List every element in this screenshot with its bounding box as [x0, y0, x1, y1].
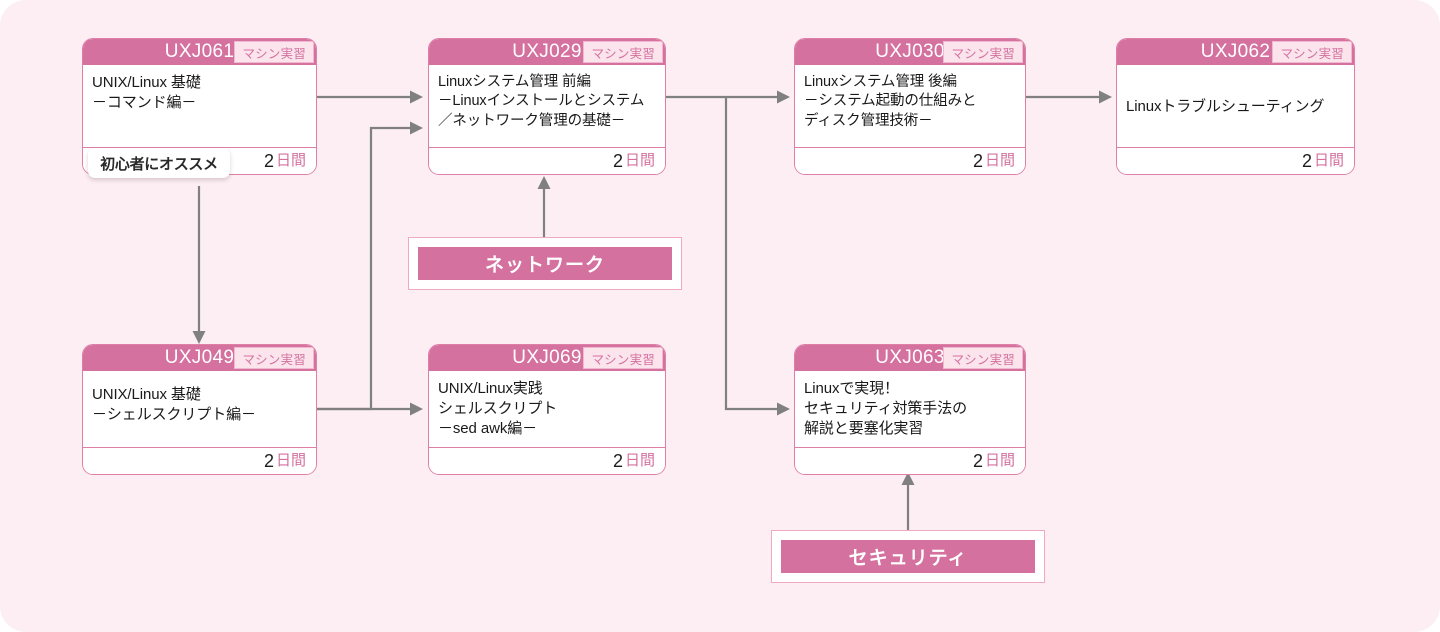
title-line: ディスク管理技術－	[804, 112, 1016, 131]
course-format-tag: マシン実習	[943, 347, 1023, 369]
duration-number: 2	[264, 452, 274, 470]
course-flow-diagram: UXJ061 マシン実習 UNIX/Linux 基礎 －コマンド編－ 2 日間 …	[0, 0, 1440, 632]
course-title: UNIX/Linux 基礎 －シェルスクリプト編－	[83, 371, 316, 431]
title-line: UNIX/Linux実践	[438, 379, 656, 399]
card-footer: 2 日間	[795, 447, 1025, 474]
duration-unit: 日間	[625, 153, 655, 169]
card-footer: 2 日間	[429, 447, 665, 474]
card-header: UXJ062 マシン実習	[1117, 39, 1354, 65]
course-card-uxj062[interactable]: UXJ062 マシン実習 Linuxトラブルシューティング 2 日間	[1116, 38, 1355, 175]
category-fill: セキュリティ	[781, 540, 1035, 573]
course-code: UXJ030	[875, 42, 944, 62]
course-card-uxj049[interactable]: UXJ049 マシン実習 UNIX/Linux 基礎 －シェルスクリプト編－ 2…	[82, 344, 317, 475]
duration-number: 2	[973, 152, 983, 170]
category-fill: ネットワーク	[418, 247, 672, 280]
title-line: Linuxトラブルシューティング	[1126, 97, 1324, 117]
course-code: UXJ061	[165, 42, 234, 62]
title-line: セキュリティ対策手法の	[804, 399, 1016, 419]
course-code: UXJ049	[165, 348, 234, 368]
card-header: UXJ061 マシン実習	[83, 39, 316, 65]
title-line: －コマンド編－	[92, 93, 307, 113]
title-line: ／ネットワーク管理の基礎－	[438, 112, 656, 131]
title-line: Linuxシステム管理 前編	[438, 73, 656, 92]
course-title: Linuxシステム管理 後編 －システム起動の仕組みと ディスク管理技術－	[795, 65, 1025, 137]
title-line: －システム起動の仕組みと	[804, 92, 1016, 111]
duration-number: 2	[613, 452, 623, 470]
title-line: 解説と要塞化実習	[804, 419, 1016, 439]
card-header: UXJ069 マシン実習	[429, 345, 665, 371]
course-format-tag: マシン実習	[234, 41, 314, 63]
course-card-uxj063[interactable]: UXJ063 マシン実習 Linuxで実現！ セキュリティ対策手法の 解説と要塞…	[794, 344, 1026, 475]
duration-number: 2	[973, 452, 983, 470]
title-line: Linuxシステム管理 後編	[804, 73, 1016, 92]
card-footer: 2 日間	[795, 147, 1025, 174]
card-header: UXJ049 マシン実習	[83, 345, 316, 371]
duration-number: 2	[613, 152, 623, 170]
title-line: シェルスクリプト	[438, 399, 656, 419]
category-box-network[interactable]: ネットワーク	[408, 237, 682, 290]
category-box-security[interactable]: セキュリティ	[771, 530, 1045, 583]
course-card-uxj030[interactable]: UXJ030 マシン実習 Linuxシステム管理 後編 －システム起動の仕組みと…	[794, 38, 1026, 175]
course-code: UXJ029	[512, 42, 581, 62]
card-footer: 2 日間	[83, 447, 316, 474]
title-line: UNIX/Linux 基礎	[92, 73, 307, 93]
duration-number: 2	[1302, 152, 1312, 170]
card-footer: 2 日間	[429, 147, 665, 174]
course-title: Linuxシステム管理 前編 －Linuxインストールとシステム ／ネットワーク…	[429, 65, 665, 137]
course-code: UXJ062	[1201, 42, 1270, 62]
card-header: UXJ029 マシン実習	[429, 39, 665, 65]
course-code: UXJ069	[512, 348, 581, 368]
title-line: －sed awk編－	[438, 419, 656, 439]
duration-unit: 日間	[276, 453, 306, 469]
title-line: Linuxで実現！	[804, 379, 1016, 399]
beginner-recommend-badge: 初心者にオススメ	[88, 148, 230, 178]
card-footer: 2 日間	[1117, 147, 1354, 174]
course-card-uxj069[interactable]: UXJ069 マシン実習 UNIX/Linux実践 シェルスクリプト －sed …	[428, 344, 666, 475]
course-title: Linuxで実現！ セキュリティ対策手法の 解説と要塞化実習	[795, 371, 1025, 445]
card-header: UXJ063 マシン実習	[795, 345, 1025, 371]
category-label: セキュリティ	[849, 543, 968, 570]
title-line: UNIX/Linux 基礎	[92, 385, 307, 405]
duration-unit: 日間	[1314, 153, 1344, 169]
course-format-tag: マシン実習	[1272, 41, 1352, 63]
card-header: UXJ030 マシン実習	[795, 39, 1025, 65]
course-format-tag: マシン実習	[583, 41, 663, 63]
duration-number: 2	[264, 152, 274, 170]
course-code: UXJ063	[875, 348, 944, 368]
course-title: Linuxトラブルシューティング	[1117, 65, 1354, 147]
course-format-tag: マシン実習	[943, 41, 1023, 63]
wire-uxj049-to-uxj029	[317, 128, 411, 409]
category-label: ネットワーク	[485, 250, 605, 277]
duration-unit: 日間	[625, 453, 655, 469]
title-line: －Linuxインストールとシステム	[438, 92, 656, 111]
course-title: UNIX/Linux 基礎 －コマンド編－	[83, 65, 316, 119]
title-line: －シェルスクリプト編－	[92, 405, 307, 425]
duration-unit: 日間	[985, 153, 1015, 169]
duration-unit: 日間	[985, 453, 1015, 469]
wire-uxj029-to-uxj063	[726, 97, 778, 409]
course-format-tag: マシン実習	[583, 347, 663, 369]
duration-unit: 日間	[276, 153, 306, 169]
course-format-tag: マシン実習	[234, 347, 314, 369]
course-title: UNIX/Linux実践 シェルスクリプト －sed awk編－	[429, 371, 665, 445]
course-card-uxj029[interactable]: UXJ029 マシン実習 Linuxシステム管理 前編 －Linuxインストール…	[428, 38, 666, 175]
